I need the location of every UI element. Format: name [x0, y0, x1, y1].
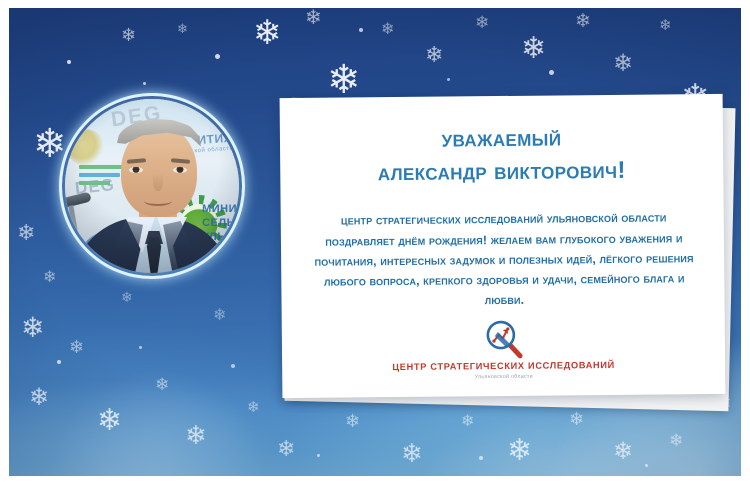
greeting-card-image: ❄ ❄ ❄ ❄ ❄ ❄ ❄ ❄ ❄ ❄ ❄ ❄ ❄ ❄ ❄ ❄ ❄ ❄ ❄ ❄ … [0, 0, 750, 484]
portrait-circle: DEG DEG ИТИЯ кой области МИНИ СЕЛЬ УЛЬ [65, 99, 239, 273]
organization-logo: Центр стратегических исследований Ульяно… [282, 317, 726, 382]
greeting-card: Уважаемый Александр Викторович! Центр ст… [280, 94, 726, 398]
image-frame: ❄ ❄ ❄ ❄ ❄ ❄ ❄ ❄ ❄ ❄ ❄ ❄ ❄ ❄ ❄ ❄ ❄ ❄ ❄ ❄ … [9, 8, 741, 476]
logo-subtitle: Ульяновской области [475, 374, 533, 381]
greeting-line-2: Александр Викторович! [306, 155, 697, 189]
magnifier-chart-icon [483, 319, 523, 359]
page-title: Уважаемый Александр Викторович! [306, 122, 698, 189]
logo-name: Центр стратегических исследований [392, 360, 615, 374]
card-content: Уважаемый Александр Викторович! Центр ст… [280, 94, 726, 398]
portrait-shading [65, 99, 239, 273]
greeting-line-1: Уважаемый [441, 124, 561, 152]
greeting-body-text: Центр стратегических исследований Ульяно… [307, 208, 702, 312]
portrait-photo: DEG DEG ИТИЯ кой области МИНИ СЕЛЬ УЛЬ [56, 90, 248, 282]
